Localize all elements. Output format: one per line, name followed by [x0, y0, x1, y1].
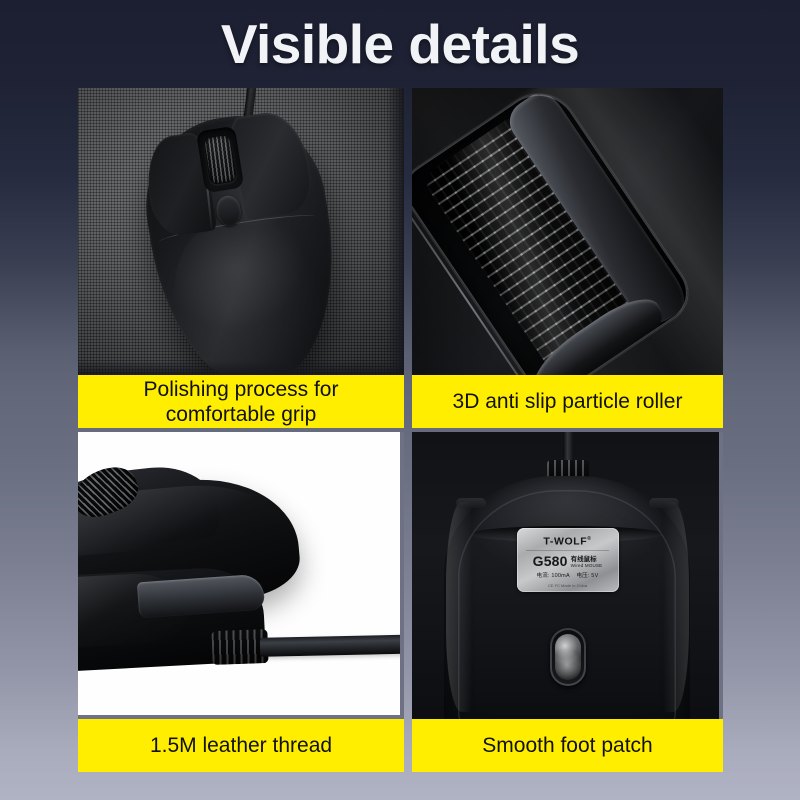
feature-card-roller[interactable]: 3D anti slip particle roller — [412, 88, 723, 428]
card-border-right — [412, 432, 723, 719]
feature-card-cable[interactable]: 1.5M leather thread — [78, 432, 404, 772]
feature-card-polishing[interactable]: Polishing process for comfortable grip — [78, 88, 404, 428]
feature-grid: Polishing process for comfortable grip 3… — [78, 88, 723, 780]
caption-line-2: comfortable grip — [166, 403, 317, 426]
photo-mouse-underside: T-WOLF® G580 有线鼠标 Wired MOUSE 电流: 100mA … — [412, 432, 723, 719]
caption-polishing: Polishing process for comfortable grip — [78, 375, 404, 428]
card-border — [78, 432, 404, 719]
page-title: Visible details — [0, 8, 800, 80]
caption-line-1: Polishing process for — [144, 378, 339, 401]
photo-mouse-side-profile — [78, 432, 404, 719]
photo-mouse-top-view — [78, 88, 404, 375]
caption-cable: 1.5M leather thread — [78, 719, 404, 772]
mousepad-right-edge — [386, 88, 404, 375]
feature-card-foot-patch[interactable]: T-WOLF® G580 有线鼠标 Wired MOUSE 电流: 100mA … — [412, 432, 723, 772]
photo-scroll-wheel-macro — [412, 88, 723, 375]
caption-foot-patch: Smooth foot patch — [412, 719, 723, 772]
mousepad-bottom-edge — [78, 361, 404, 375]
caption-roller: 3D anti slip particle roller — [412, 375, 723, 428]
